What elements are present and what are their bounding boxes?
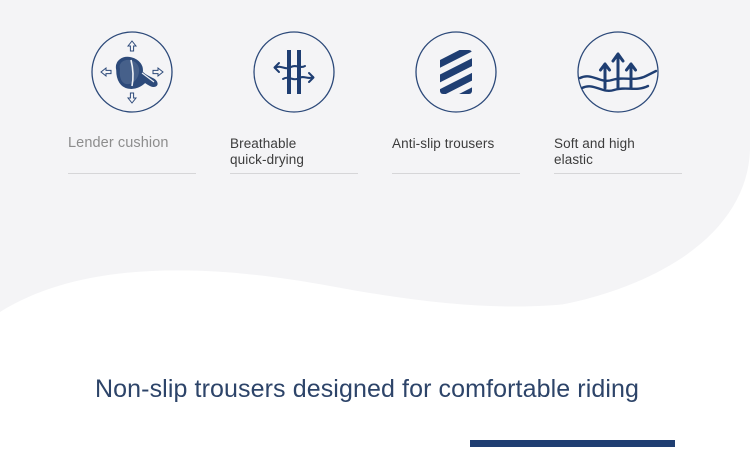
icon-wrap [554, 30, 682, 114]
feature-divider [554, 173, 682, 174]
feature-item-breathable-quick-drying: Breathablequick-drying [230, 30, 358, 174]
feature-label: Anti-slip trousers [392, 136, 494, 167]
feature-label: Breathablequick-drying [230, 136, 304, 167]
feature-divider [392, 173, 520, 174]
feature-divider [230, 173, 358, 174]
anti-slip-stripes-icon [414, 30, 498, 114]
feature-label: Soft and highelastic [554, 136, 635, 167]
feature-item-lender-cushion: Lender cushion [68, 30, 196, 174]
feature-item-anti-slip-trousers: Anti-slip trousers [392, 30, 520, 174]
product-feature-banner: Lender cushion Breathablequick-drying [0, 0, 750, 469]
feature-divider [68, 173, 196, 174]
elastic-waves-arrows-icon [576, 30, 660, 114]
accent-bar [470, 440, 675, 447]
headline-text: Non-slip trousers designed for comfortab… [95, 372, 655, 406]
icon-wrap [68, 30, 196, 114]
feature-label: Lender cushion [68, 136, 169, 167]
breathable-airflow-icon [252, 30, 336, 114]
feature-list: Lender cushion Breathablequick-drying [0, 30, 750, 174]
icon-wrap [392, 30, 520, 114]
feature-item-soft-and-high-elastic: Soft and highelastic [554, 30, 682, 174]
icon-wrap [230, 30, 358, 114]
saddle-cushion-icon [90, 30, 174, 114]
